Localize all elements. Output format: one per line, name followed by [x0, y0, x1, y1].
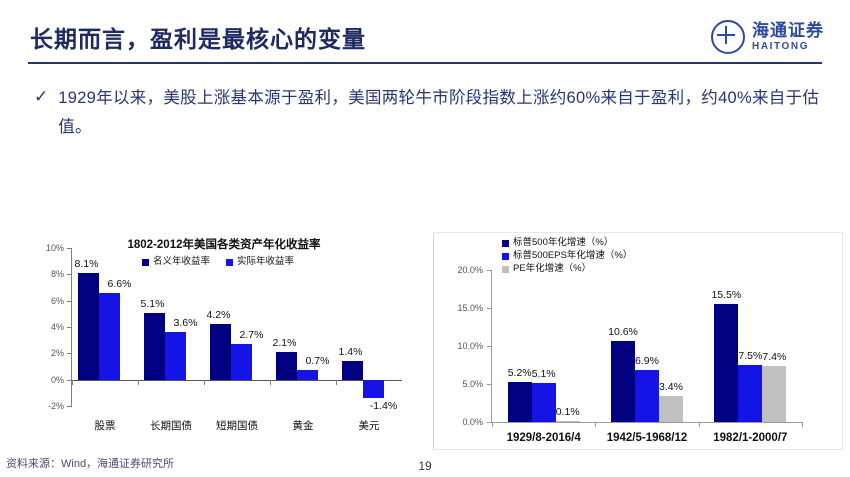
y-axis-tickmark — [67, 274, 72, 275]
x-axis-tickmark — [138, 380, 139, 385]
bar — [363, 380, 384, 398]
bullet-row: ✓ 1929年以来，美股上涨基本源于盈利，美国两轮牛市阶段指数上涨约60%来自于… — [34, 84, 824, 142]
bar — [231, 344, 252, 380]
x-axis-tickmark — [72, 380, 73, 385]
chart-asset-returns: 1802-2012年美国各类资产年化收益率 名义年收益率实际年收益率 -2%0%… — [14, 232, 424, 458]
x-axis-tickmark — [699, 422, 700, 427]
x-axis-label: 美元 — [359, 418, 380, 433]
y-axis-tick-label: -2% — [48, 401, 64, 411]
x-axis-tickmark — [802, 422, 803, 427]
bar-value-label: 8.1% — [75, 258, 99, 270]
bar — [78, 273, 99, 380]
y-axis-tick-label: 5.0% — [462, 379, 483, 389]
bar-value-label: 1.4% — [339, 346, 363, 358]
bar — [210, 324, 231, 379]
bar — [508, 382, 532, 422]
chart-plot-right: 0.0%5.0%10.0%15.0%20.0%5.2%5.1%0.1%1929/… — [492, 270, 802, 422]
bar-value-label: 7.5% — [738, 350, 762, 362]
y-axis-tickmark — [67, 248, 72, 249]
bar — [714, 304, 738, 422]
x-axis-tickmark — [270, 380, 271, 385]
chart-plot-left: -2%0%2%4%6%8%10%8.1%6.6%股票5.1%3.6%长期国债4.… — [72, 248, 402, 406]
y-axis-tickmark — [487, 308, 492, 309]
y-axis-tickmark — [487, 270, 492, 271]
bar-value-label: 5.1% — [532, 368, 556, 380]
bar-value-label: 2.7% — [240, 329, 264, 341]
x-axis-line — [72, 380, 402, 382]
bar-value-label: 6.9% — [635, 355, 659, 367]
y-axis-tick-label: 0% — [51, 375, 64, 385]
bar-value-label: 3.6% — [174, 317, 198, 329]
bar — [297, 370, 318, 379]
page-title: 长期而言，盈利是最核心的变量 — [30, 20, 366, 54]
y-axis-tick-label: 15.0% — [457, 303, 483, 313]
y-axis-tickmark — [487, 384, 492, 385]
brand-name-cn: 海通证券 — [752, 23, 824, 40]
haitong-logo: 海通证券 HAITONG — [711, 20, 824, 54]
x-axis-label: 股票 — [95, 418, 116, 433]
bar-value-label: 5.2% — [508, 367, 532, 379]
bar — [762, 366, 786, 422]
page-number: 19 — [0, 459, 850, 473]
y-axis-tick-label: 0.0% — [462, 417, 483, 427]
slide-header: 长期而言，盈利是最核心的变量 海通证券 HAITONG — [0, 0, 850, 68]
x-axis-label: 短期国债 — [216, 418, 258, 433]
x-axis-label: 长期国债 — [150, 418, 192, 433]
y-axis-tickmark — [67, 353, 72, 354]
bar-value-label: 7.4% — [762, 351, 786, 363]
legend-item: 标普500EPS年化增速（%） — [502, 250, 632, 263]
bar — [99, 293, 120, 380]
legend-swatch-icon — [502, 253, 509, 260]
bar — [165, 332, 186, 379]
y-axis-tick-label: 6% — [51, 296, 64, 306]
legend-label: 标普500年化增速（%） — [513, 237, 613, 250]
x-axis-tickmark — [204, 380, 205, 385]
haitong-emblem-icon — [711, 20, 745, 54]
bar — [342, 361, 363, 379]
x-axis-label: 1929/8-2016/4 — [507, 432, 581, 444]
y-axis-tick-label: 8% — [51, 269, 64, 279]
bar — [659, 396, 683, 422]
bar-value-label: 15.5% — [711, 289, 741, 301]
x-axis-tickmark — [336, 380, 337, 385]
x-axis-label: 1942/5-1968/12 — [607, 432, 688, 444]
x-axis-label: 黄金 — [293, 418, 314, 433]
bar — [738, 365, 762, 422]
y-axis-tickmark — [67, 406, 72, 407]
legend-swatch-icon — [502, 240, 509, 247]
y-axis-tickmark — [487, 346, 492, 347]
bar — [532, 383, 556, 422]
legend-label: 标普500EPS年化增速（%） — [513, 250, 632, 263]
x-axis-label: 1982/1-2000/7 — [713, 432, 787, 444]
y-axis-tickmark — [67, 301, 72, 302]
chart-sp500-decomposition: 标普500年化增速（%）标普500EPS年化增速（%）PE年化增速（%） 0.0… — [430, 232, 846, 458]
bar — [611, 341, 635, 422]
bar-value-label: 10.6% — [608, 326, 638, 338]
header-divider — [28, 62, 822, 64]
y-axis-tick-label: 20.0% — [457, 265, 483, 275]
x-axis-tickmark — [595, 422, 596, 427]
bar-value-label: 6.6% — [108, 278, 132, 290]
brand-name-en: HAITONG — [752, 42, 824, 52]
bar-value-label: 0.1% — [556, 406, 580, 418]
bar — [556, 421, 580, 422]
bar-value-label: -1.4% — [370, 400, 397, 412]
bullet-block: ✓ 1929年以来，美股上涨基本源于盈利，美国两轮牛市阶段指数上涨约60%来自于… — [34, 84, 824, 142]
x-axis-tickmark — [492, 422, 493, 427]
bullet-text: 1929年以来，美股上涨基本源于盈利，美国两轮牛市阶段指数上涨约60%来自于盈利… — [58, 84, 824, 142]
checkmark-icon: ✓ — [34, 84, 48, 142]
y-axis-tick-label: 2% — [51, 348, 64, 358]
bar — [635, 370, 659, 422]
brand-text: 海通证券 HAITONG — [752, 23, 824, 52]
x-axis-line — [492, 422, 802, 423]
y-axis-tickmark — [67, 327, 72, 328]
bar-value-label: 3.4% — [659, 381, 683, 393]
bar — [144, 313, 165, 380]
bar-value-label: 5.1% — [141, 298, 165, 310]
bar — [276, 352, 297, 380]
y-axis-tick-label: 10.0% — [457, 341, 483, 351]
legend-item: 标普500年化增速（%） — [502, 237, 632, 250]
y-axis-tick-label: 4% — [51, 322, 64, 332]
bar-value-label: 0.7% — [306, 355, 330, 367]
bar-value-label: 2.1% — [273, 337, 297, 349]
y-axis-tick-label: 10% — [46, 243, 64, 253]
bar-value-label: 4.2% — [207, 309, 231, 321]
